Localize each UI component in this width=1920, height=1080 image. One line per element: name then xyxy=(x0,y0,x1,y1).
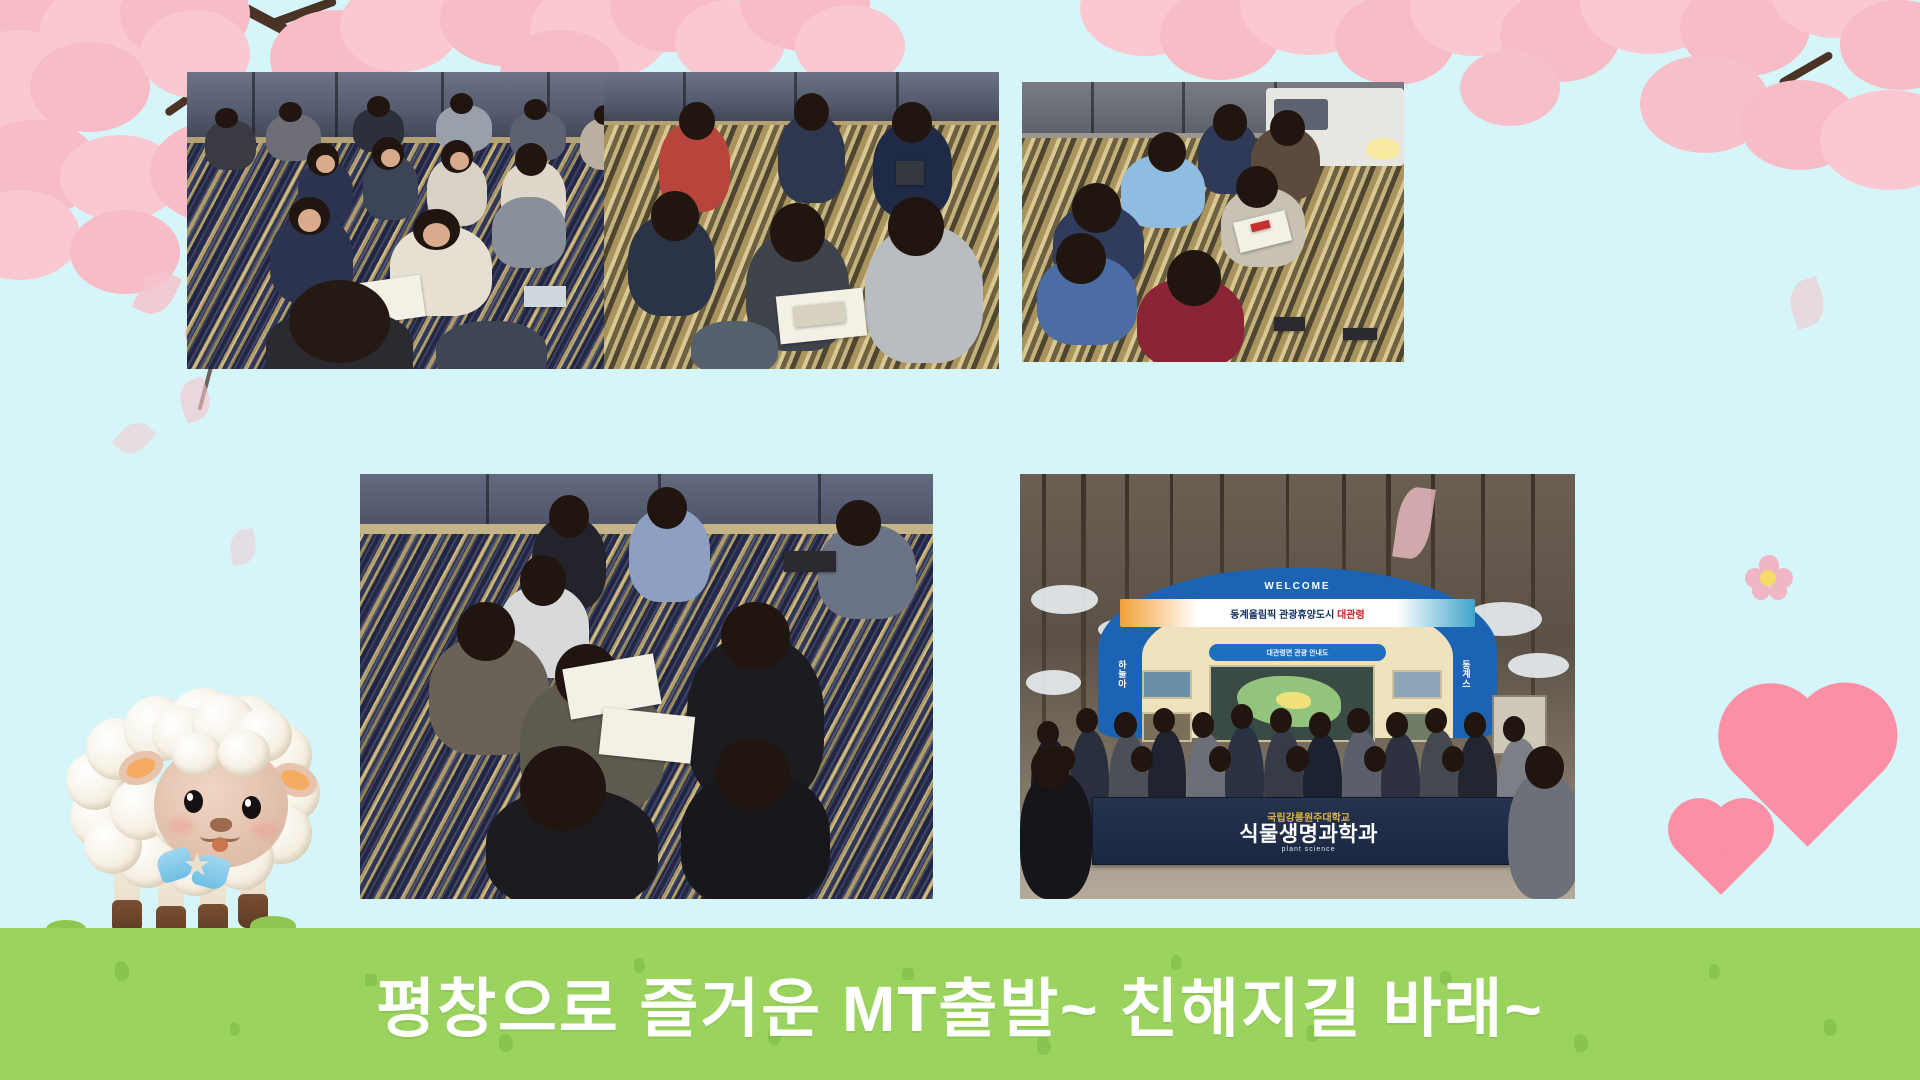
cherry-blossom-icon xyxy=(1745,555,1791,601)
branch-icon xyxy=(1679,0,1767,36)
banner-university: 국립강릉원주대학교 xyxy=(1267,809,1350,824)
branch-icon xyxy=(1778,51,1834,88)
caption-banner: 평창으로 즐거운 MT출발~ 친해지길 바래~ xyxy=(0,928,1920,1080)
eye-left xyxy=(184,790,203,813)
photo-2[interactable]: 바닥에 앉아 종이에 그림 그리는 학생들 xyxy=(604,72,999,369)
branch-icon xyxy=(268,0,337,29)
branch-icon xyxy=(0,165,99,194)
tongue xyxy=(212,838,228,852)
branch-icon xyxy=(217,0,328,57)
heart-small-right xyxy=(1677,807,1765,895)
eye-right xyxy=(242,796,261,819)
banner-subtitle: plant science xyxy=(1282,846,1336,853)
photo-4[interactable]: 강당 바닥에서 조별 활동 중인 학생들 xyxy=(360,474,933,899)
department-banner: 국립강릉원주대학교 식물생명과학과 plant science xyxy=(1092,797,1525,865)
sheep-mascot: 양 캐릭터 xyxy=(40,660,340,950)
branch-icon xyxy=(499,0,589,26)
banner-department: 식물생명과학과 xyxy=(1239,824,1378,846)
branch-icon xyxy=(1379,0,1488,30)
photo-5[interactable]: 대관령 안내판 앞 학과 단체사진 WELCOME 동계올림픽 관광휴양도시 대… xyxy=(1020,474,1575,899)
petal-right xyxy=(1784,276,1831,330)
photo-3[interactable]: 둘러앉아 활동지 작성하는 조 xyxy=(1022,82,1404,362)
photo-1[interactable]: 강당에 모여 앉은 학생들 단체사진 xyxy=(187,72,649,369)
page-caption: 평창으로 즐거운 MT출발~ 친해지길 바래~ xyxy=(0,928,1920,1080)
branch-icon xyxy=(89,235,148,265)
collage-canvas: 강당에 모여 앉은 학생들 단체사진 xyxy=(0,0,1920,1080)
